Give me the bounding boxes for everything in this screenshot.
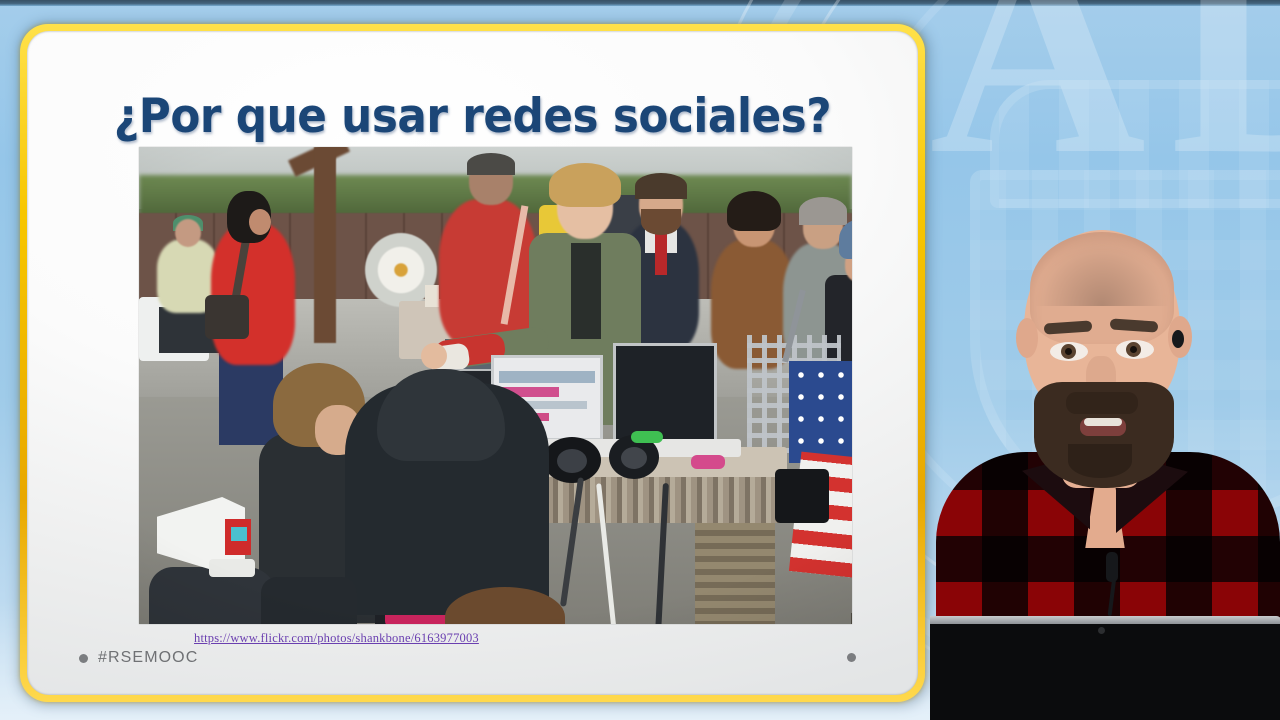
- presenter-pupil-left: [1065, 348, 1072, 355]
- presenter-moustache: [1066, 392, 1138, 414]
- slide-panel-frame: ¿Por que usar redes sociales?: [20, 24, 925, 702]
- video-lecture-frame: AD ¿Por que usar redes sociales?: [0, 0, 1280, 720]
- slide-footer-left: #RSEMOOC: [79, 649, 198, 667]
- footer-hashtag: #RSEMOOC: [98, 649, 198, 667]
- presenter-ear-left: [1016, 318, 1038, 358]
- slide-photo: [139, 147, 852, 624]
- presenter-laptop: [930, 616, 1280, 720]
- photo-vignette: [139, 147, 852, 624]
- presenter-earbud: [1172, 330, 1184, 348]
- presenter-laptop-bezel: [930, 616, 1280, 624]
- slide-page: ¿Por que usar redes sociales?: [27, 31, 918, 695]
- presenter-scalp-stubble: [1034, 236, 1170, 306]
- presenter-video: [930, 0, 1280, 720]
- bullet-dot-icon-right: [847, 653, 856, 662]
- presenter-laptop-camera: [1098, 627, 1105, 634]
- bullet-dot-icon: [79, 654, 88, 663]
- presenter-chin-beard: [1068, 444, 1132, 478]
- slide-footer-right: [847, 649, 856, 667]
- presenter-teeth: [1084, 418, 1122, 426]
- photo-credit-link[interactable]: https://www.flickr.com/photos/shankbone/…: [194, 631, 479, 646]
- slide-title: ¿Por que usar redes sociales?: [58, 89, 887, 144]
- presenter-pupil-right: [1130, 346, 1137, 353]
